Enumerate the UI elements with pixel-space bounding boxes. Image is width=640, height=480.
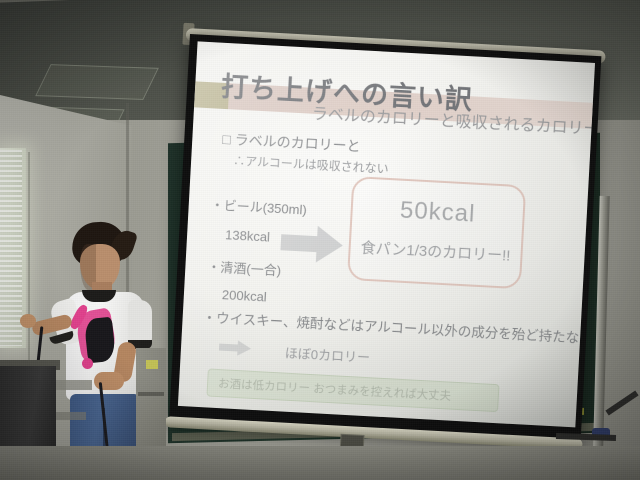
- slide-summary-box: お酒は低カロリー おつまみを控えれば大丈夫: [206, 368, 499, 412]
- projection-screen-surface: 打ち上げへの言い訳 ラベルのカロリーと吸収されるカロリーは違う □ ラベルのカロ…: [178, 41, 595, 427]
- presenter-hand-left: [20, 314, 36, 328]
- shelf: [56, 412, 86, 420]
- slide-item-whisky: ・ウイスキー、焼酎などはアルコール以外の成分を殆ど持たない: [202, 306, 593, 347]
- projection-screen: 打ち上げへの言い訳 ラベルのカロリーと吸収されるカロリーは違う □ ラベルのカロ…: [169, 34, 601, 446]
- arrow-right-icon: [280, 222, 344, 265]
- callout-note: 食パン1/3のカロリー!!: [350, 236, 521, 266]
- slide-item-beer-kcal: 138kcal: [225, 227, 271, 244]
- slide-callout-box: 50kcal 食パン1/3のカロリー!!: [347, 176, 526, 289]
- slide-bullet-secondary: ∴アルコールは吸収されない: [233, 152, 389, 177]
- shirt-graphic-dot: [82, 358, 93, 369]
- photo-scene: 打ち上げへの言い訳 ラベルのカロリーと吸収されるカロリーは違う □ ラベルのカロ…: [0, 0, 640, 480]
- slide-summary-text: お酒は低カロリー おつまみを控えれば大丈夫: [218, 375, 452, 404]
- rack-slot: [138, 392, 164, 396]
- window-blinds-icon: [0, 150, 22, 346]
- arrow-right-small-icon: [219, 339, 252, 357]
- ceiling-light-panel: [35, 64, 159, 100]
- callout-kcal-value: 50kcal: [352, 194, 523, 231]
- slide-item-sake-kcal: 200kcal: [222, 287, 268, 304]
- presentation-slide: 打ち上げへの言い訳 ラベルのカロリーと吸収されるカロリーは違う □ ラベルのカロ…: [178, 41, 595, 427]
- rack-label: [146, 360, 158, 369]
- floor: [0, 446, 640, 480]
- slide-item-zero-calorie: ほぼ0カロリー: [284, 343, 370, 367]
- shelf: [56, 380, 92, 390]
- slide-item-beer: ・ビール(350ml): [210, 194, 307, 218]
- slide-item-sake: ・清酒(一合): [207, 256, 282, 279]
